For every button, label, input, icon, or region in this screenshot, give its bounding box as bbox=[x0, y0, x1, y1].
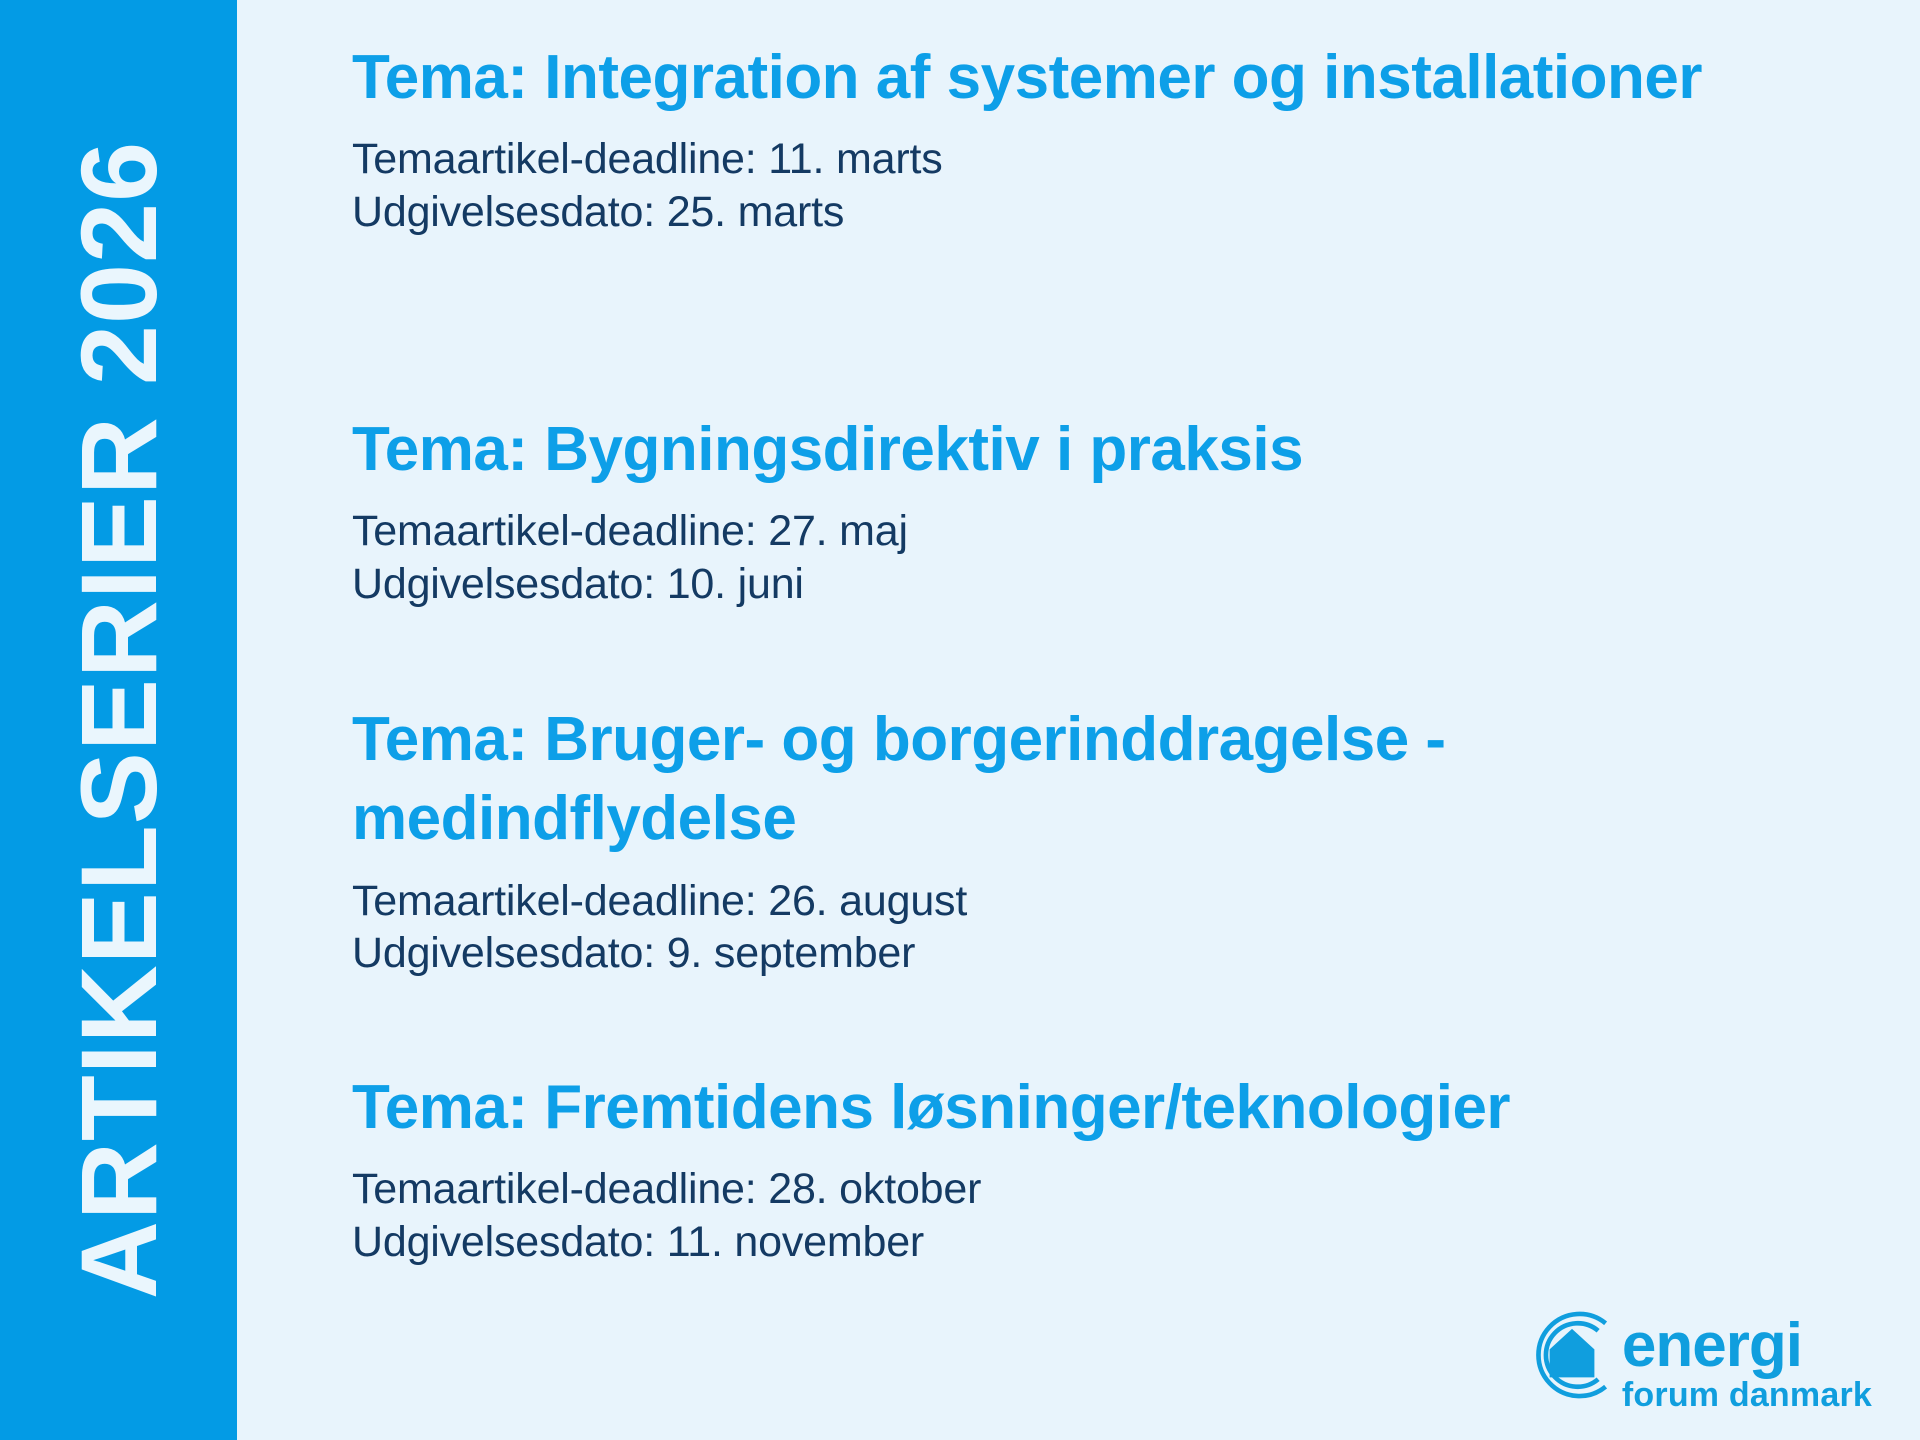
sidebar-title: ARTIKELSERIER 2026 bbox=[65, 141, 173, 1299]
slide-root: ARTIKELSERIER 2026 Tema: Integration af … bbox=[0, 0, 1920, 1440]
logo: energi forum danmark bbox=[1516, 1299, 1872, 1412]
theme-section-2: Tema: Bygningsdirektiv i praksis Temaart… bbox=[352, 410, 1832, 610]
logo-word-forum-danmark: forum danmark bbox=[1622, 1378, 1872, 1412]
theme-deadline-1: Temaartikel-deadline: 11. marts bbox=[352, 133, 1832, 185]
theme-deadline-4: Temaartikel-deadline: 28. oktober bbox=[352, 1163, 1832, 1215]
theme-publish-date-2: Udgivelsesdato: 10. juni bbox=[352, 558, 1832, 610]
theme-publish-date-3: Udgivelsesdato: 9. september bbox=[352, 927, 1832, 979]
theme-deadline-2: Temaartikel-deadline: 27. maj bbox=[352, 505, 1832, 557]
theme-publish-date-4: Udgivelsesdato: 11. november bbox=[352, 1216, 1832, 1268]
theme-title-2: Tema: Bygningsdirektiv i praksis bbox=[352, 410, 1832, 489]
sidebar-banner: ARTIKELSERIER 2026 bbox=[0, 0, 237, 1440]
logo-wordmark: energi forum danmark bbox=[1622, 1299, 1872, 1412]
theme-section-4: Tema: Fremtidens løsninger/teknologier T… bbox=[352, 1068, 1832, 1268]
theme-title-1: Tema: Integration af systemer og install… bbox=[352, 38, 1722, 117]
theme-section-3: Tema: Bruger- og borgerinddragelse - med… bbox=[352, 700, 1832, 980]
theme-publish-date-1: Udgivelsesdato: 25. marts bbox=[352, 186, 1832, 238]
content-column: Tema: Integration af systemer og install… bbox=[352, 0, 1832, 1440]
theme-section-1: Tema: Integration af systemer og install… bbox=[352, 38, 1832, 238]
theme-title-4: Tema: Fremtidens løsninger/teknologier bbox=[352, 1068, 1832, 1147]
circle-house-icon bbox=[1516, 1299, 1628, 1411]
theme-title-3: Tema: Bruger- og borgerinddragelse - med… bbox=[352, 700, 1722, 859]
theme-deadline-3: Temaartikel-deadline: 26. august bbox=[352, 875, 1832, 927]
logo-word-energi: energi bbox=[1622, 1317, 1872, 1374]
